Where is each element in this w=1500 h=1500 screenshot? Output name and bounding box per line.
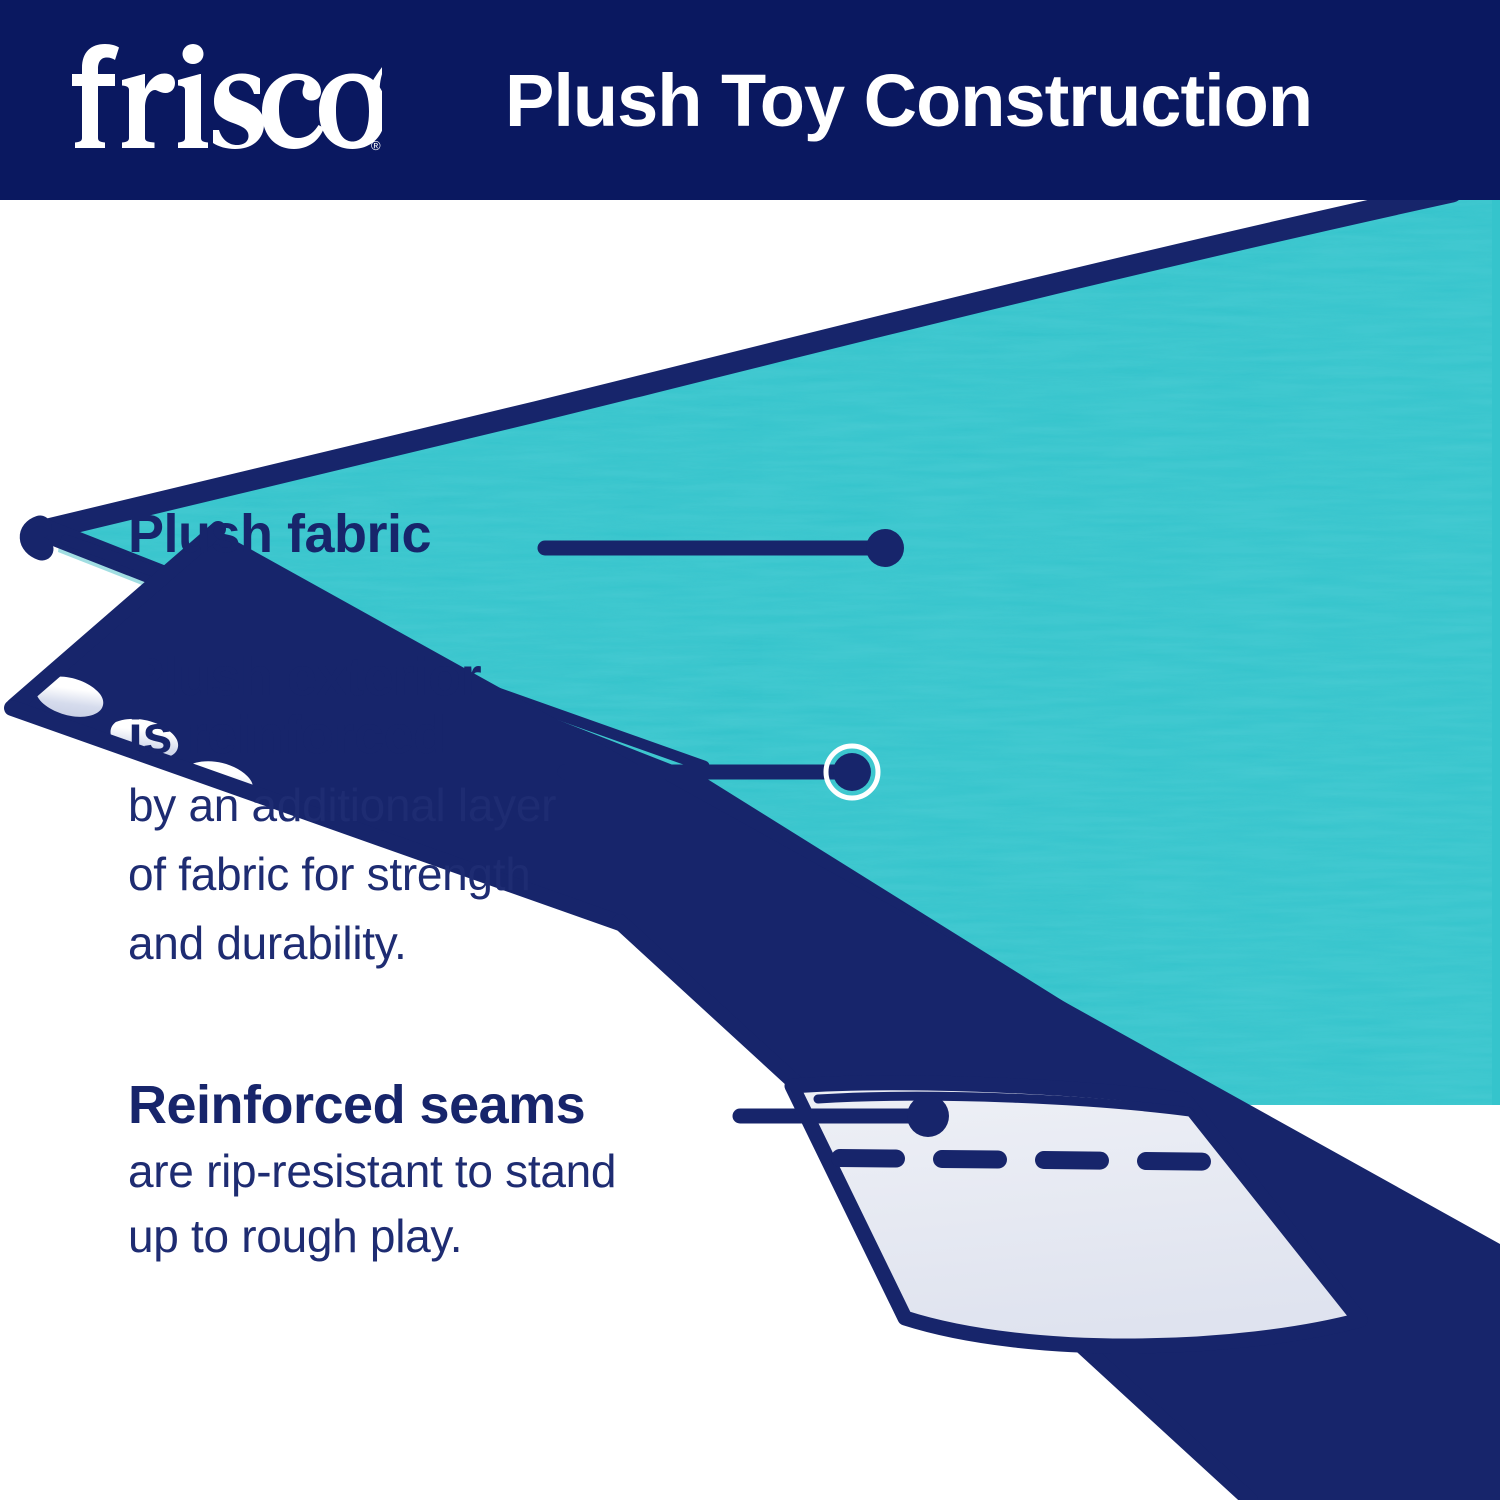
header-bar: ® Plush Toy Construction <box>0 0 1500 200</box>
seam-stitch-dashes <box>840 1158 1245 1162</box>
callout-reinforced-seams-body-line-2: up to rough play. <box>128 1209 616 1264</box>
callout-reinforced-seams-body-line-1: are rip-resistant to stand <box>128 1144 616 1199</box>
callout-reinforced-seams: Reinforced seams are rip-resistant to st… <box>128 1076 616 1264</box>
callout-plush-exterior-body-line-1: by an additional layer <box>128 778 556 833</box>
page-title: Plush Toy Construction <box>505 0 1312 200</box>
frisco-logo: ® <box>72 42 382 157</box>
plush-fabric-corner-tip <box>31 527 42 549</box>
callout-plush-fabric-heading: Plush fabric <box>128 505 431 563</box>
callout-plush-exterior-body-line-3: and durability. <box>128 916 556 971</box>
callout-plush-exterior-heading-line-1: Plush exterior <box>128 648 556 706</box>
callout-plush-fabric: Plush fabric <box>128 505 431 563</box>
callout-plush-exterior-heading-line-2: is reinforced <box>128 706 556 764</box>
callout-plush-exterior-body-line-2: of fabric for strength <box>128 847 556 902</box>
callout-plush-exterior: Plush exterior is reinforced by an addit… <box>128 648 556 971</box>
infographic-root: ® Plush Toy Construction <box>0 0 1500 1500</box>
callout-reinforced-seams-heading: Reinforced seams <box>128 1076 616 1134</box>
registered-mark: ® <box>371 138 381 153</box>
